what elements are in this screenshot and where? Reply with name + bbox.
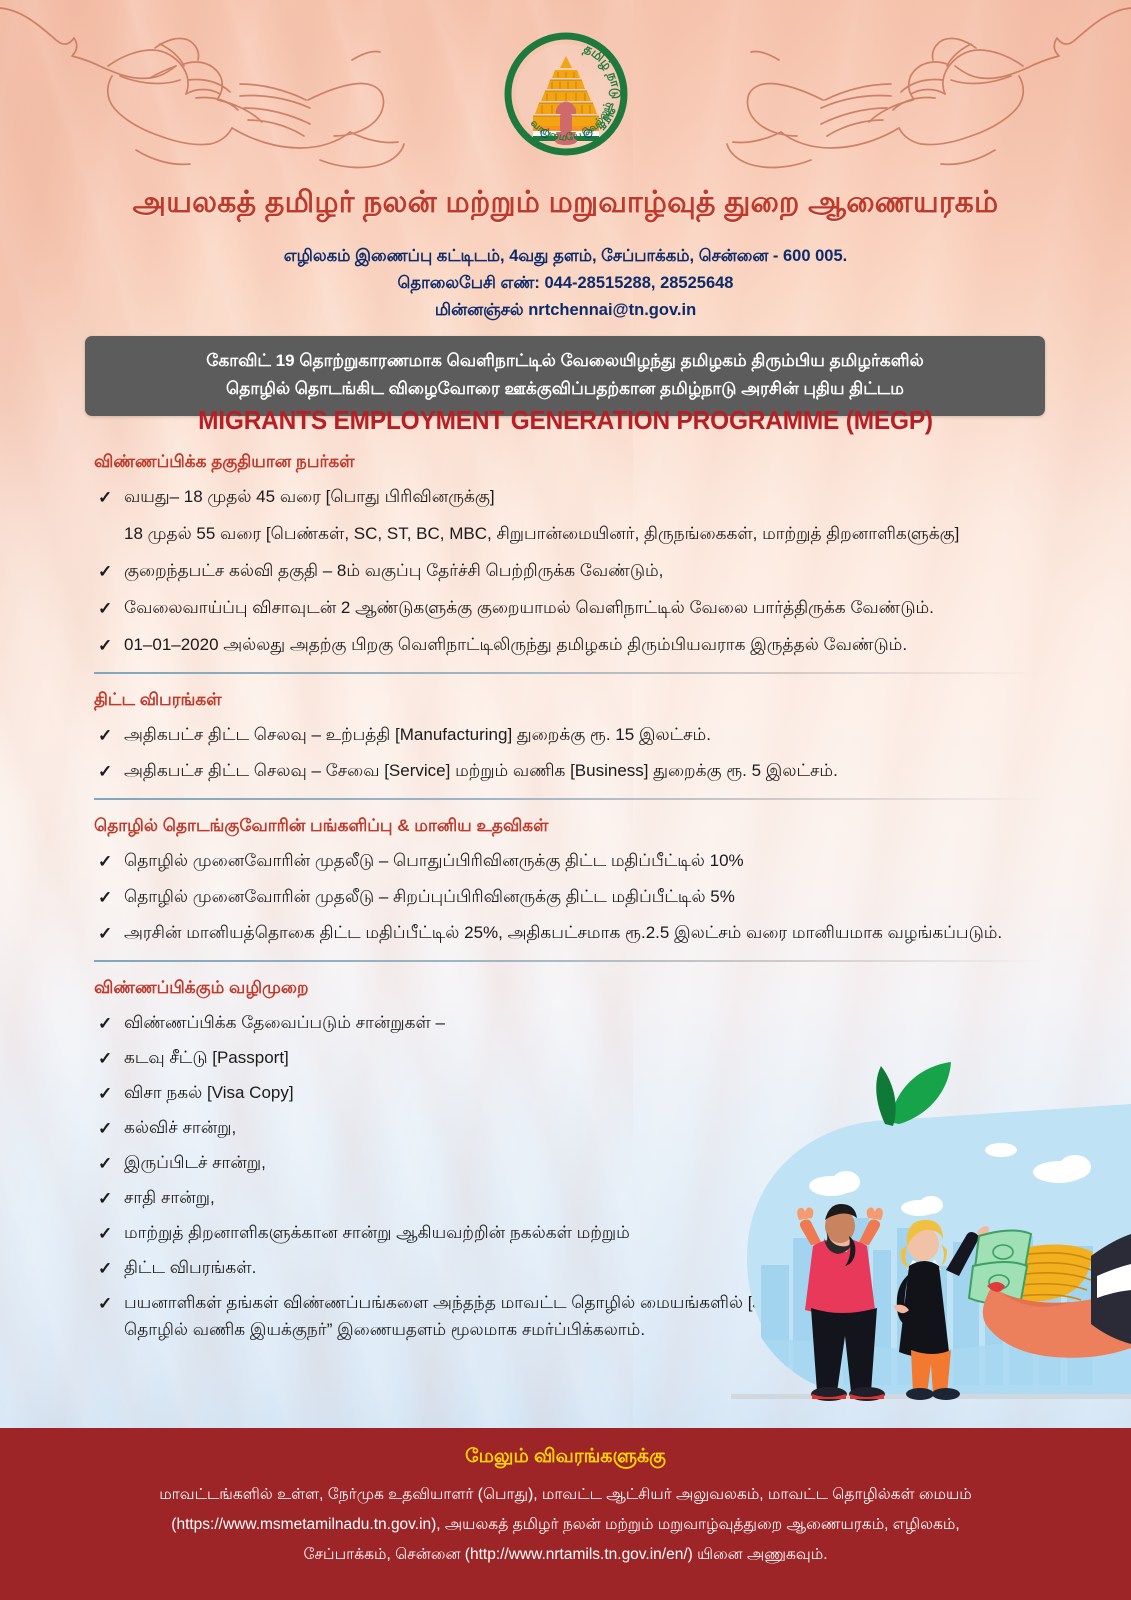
list-item: ✓தொழில் முனைவோரின் முதலீடு – சிறப்புப்பி… bbox=[94, 883, 1044, 910]
list-item-text: தொழில் முனைவோரின் முதலீடு – பொதுப்பிரிவி… bbox=[124, 851, 744, 870]
section-divider bbox=[94, 798, 1044, 800]
list-item: ✓வயது– 18 முதல் 45 வரை [பொது பிரிவினருக்… bbox=[94, 483, 1044, 510]
list-item: ✓மாற்றுத் திறனாளிகளுக்கான சான்று ஆகியவற்… bbox=[94, 1219, 1044, 1246]
project-details-list: ✓அதிகபட்ச திட்ட செலவு – உற்பத்தி [Manufa… bbox=[94, 721, 1044, 784]
section-divider bbox=[94, 672, 1044, 674]
section-how-to-apply: விண்ணப்பிக்கும் வழிமுறை ✓விண்ணப்பிக்க தே… bbox=[94, 978, 1044, 1343]
check-icon: ✓ bbox=[98, 1115, 112, 1142]
list-item-text: குறைந்தபட்ச கல்வி தகுதி – 8ம் வகுப்பு தே… bbox=[124, 561, 663, 580]
section-eligibility: விண்ணப்பிக்க தகுதியான நபர்கள் ✓வயது– 18 … bbox=[94, 452, 1044, 658]
list-item: ✓கல்விச் சான்று, bbox=[94, 1114, 1044, 1141]
contact-block: எழிலகம் இணைப்பு கட்டிடம், 4வது தளம், சேப… bbox=[0, 243, 1131, 324]
list-item-text: மாற்றுத் திறனாளிகளுக்கான சான்று ஆகியவற்ற… bbox=[124, 1223, 630, 1242]
list-item: ✓பயனாளிகள் தங்கள் விண்ணப்பங்களை அந்தந்த … bbox=[94, 1289, 1044, 1343]
list-item-text: 01–01–2020 அல்லது அதற்கு பிறகு வெளிநாட்ட… bbox=[124, 635, 907, 654]
check-icon: ✓ bbox=[98, 595, 112, 622]
list-item: ✓கடவு சீட்டு [Passport] bbox=[94, 1044, 1044, 1071]
check-icon: ✓ bbox=[98, 1290, 112, 1317]
check-icon: ✓ bbox=[98, 1185, 112, 1212]
check-icon: ✓ bbox=[98, 1150, 112, 1177]
list-item-text: வேலைவாய்ப்பு விசாவுடன் 2 ஆண்டுகளுக்கு கு… bbox=[124, 598, 934, 617]
how-to-apply-list: ✓விண்ணப்பிக்க தேவைப்படும் சான்றுகள் – ✓க… bbox=[94, 1009, 1044, 1343]
list-item: ✓தொழில் முனைவோரின் முதலீடு – பொதுப்பிரிவ… bbox=[94, 847, 1044, 874]
list-item-text: அரசின் மானியத்தொகை திட்ட மதிப்பீட்டில் 2… bbox=[124, 923, 1002, 942]
check-icon: ✓ bbox=[98, 722, 112, 749]
check-icon: ✓ bbox=[98, 558, 112, 585]
list-item: ✓வேலைவாய்ப்பு விசாவுடன் 2 ஆண்டுகளுக்கு க… bbox=[94, 594, 1044, 621]
list-item: ✓அதிகபட்ச திட்ட செலவு – உற்பத்தி [Manufa… bbox=[94, 721, 1044, 748]
list-item: ✓குறைந்தபட்ச கல்வி தகுதி – 8ம் வகுப்பு த… bbox=[94, 557, 1044, 584]
footer-body: மாவட்டங்களில் உள்ள, நேர்முக உதவியாளர் (ப… bbox=[0, 1480, 1131, 1570]
list-item-text: பயனாளிகள் தங்கள் விண்ணப்பங்களை அந்தந்த ம… bbox=[124, 1293, 996, 1339]
list-item-text: அதிகபட்ச திட்ட செலவு – உற்பத்தி [Manufac… bbox=[124, 725, 711, 744]
list-item-text: கல்விச் சான்று, bbox=[124, 1118, 236, 1137]
email-line: மின்னஞ்சல் nrtchennai@tn.gov.in bbox=[0, 297, 1131, 324]
contribution-list: ✓தொழில் முனைவோரின் முதலீடு – பொதுப்பிரிவ… bbox=[94, 847, 1044, 946]
list-item: ✓01–01–2020 அல்லது அதற்கு பிறகு வெளிநாட்… bbox=[94, 631, 1044, 658]
list-item: ✓அரசின் மானியத்தொகை திட்ட மதிப்பீட்டில் … bbox=[94, 919, 1044, 946]
phone-line: தொலைபேசி எண்: 044-28515288, 28525648 bbox=[0, 270, 1131, 297]
programme-title: MIGRANTS EMPLOYMENT GENERATION PROGRAMME… bbox=[34, 405, 1097, 436]
list-item-text: அதிகபட்ச திட்ட செலவு – சேவை [Service] மற… bbox=[124, 761, 838, 780]
footer-line-2: (https://www.msmetamilnadu.tn.gov.in), அ… bbox=[58, 1510, 1073, 1540]
content-body: விண்ணப்பிக்க தகுதியான நபர்கள் ✓வயது– 18 … bbox=[94, 452, 1044, 1351]
list-item: ✓அதிகபட்ச திட்ட செலவு – சேவை [Service] ம… bbox=[94, 757, 1044, 784]
check-icon: ✓ bbox=[98, 1080, 112, 1107]
check-icon: ✓ bbox=[98, 484, 112, 511]
list-item: ✓சாதி சான்று, bbox=[94, 1184, 1044, 1211]
section-divider bbox=[94, 960, 1044, 962]
list-item-text: திட்ட விபரங்கள். bbox=[124, 1258, 256, 1277]
tamil-nadu-state-emblem-icon: தமிழ் நாடு அரசு வாய்மையே வெல்லும் bbox=[500, 28, 632, 160]
list-item-text: விசா நகல் [Visa Copy] bbox=[124, 1083, 294, 1102]
list-item: ✓திட்ட விபரங்கள். bbox=[94, 1254, 1044, 1281]
check-icon: ✓ bbox=[98, 1255, 112, 1282]
section-project-details: திட்ட விபரங்கள் ✓அதிகபட்ச திட்ட செலவு – … bbox=[94, 690, 1044, 784]
list-item: ✓விண்ணப்பிக்க தேவைப்படும் சான்றுகள் – bbox=[94, 1009, 1044, 1036]
banner-line-1: கோவிட் 19 தொற்றுகாரணமாக வெளிநாட்டில் வேல… bbox=[103, 347, 1027, 375]
emblem-container: தமிழ் நாடு அரசு வாய்மையே வெல்லும் bbox=[0, 28, 1131, 160]
eligibility-list: ✓வயது– 18 முதல் 45 வரை [பொது பிரிவினருக்… bbox=[94, 483, 1044, 658]
check-icon: ✓ bbox=[98, 920, 112, 947]
check-icon: ✓ bbox=[98, 1045, 112, 1072]
organisation-title: அயலகத் தமிழர் நலன் மற்றும் மறுவாழ்வுத் த… bbox=[0, 186, 1131, 224]
check-icon: ✓ bbox=[98, 1220, 112, 1247]
section-contribution-subsidy: தொழில் தொடங்குவோரின் பங்களிப்பு & மானிய … bbox=[94, 816, 1044, 946]
list-item: ✓இருப்பிடச் சான்று, bbox=[94, 1149, 1044, 1176]
check-icon: ✓ bbox=[98, 632, 112, 659]
list-item: 18 முதல் 55 வரை [பெண்கள், SC, ST, BC, MB… bbox=[94, 520, 1044, 547]
check-icon: ✓ bbox=[98, 848, 112, 875]
footer-bar: மேலும் விவரங்களுக்கு மாவட்டங்களில் உள்ள,… bbox=[0, 1428, 1131, 1600]
list-item-text: தொழில் முனைவோரின் முதலீடு – சிறப்புப்பிர… bbox=[124, 887, 735, 906]
footer-heading: மேலும் விவரங்களுக்கு bbox=[0, 1446, 1131, 1470]
scheme-banner: கோவிட் 19 தொற்றுகாரணமாக வெளிநாட்டில் வேல… bbox=[85, 336, 1045, 416]
section-heading: தொழில் தொடங்குவோரின் பங்களிப்பு & மானிய … bbox=[94, 816, 1044, 838]
list-item: ✓விசா நகல் [Visa Copy] bbox=[94, 1079, 1044, 1106]
footer-line-3: சேப்பாக்கம், சென்னை (http://www.nrtamils… bbox=[58, 1540, 1073, 1570]
check-icon: ✓ bbox=[98, 884, 112, 911]
list-item-text: விண்ணப்பிக்க தேவைப்படும் சான்றுகள் – bbox=[124, 1013, 445, 1032]
section-heading: திட்ட விபரங்கள் bbox=[94, 690, 1044, 712]
list-item-text: வயது– 18 முதல் 45 வரை [பொது பிரிவினருக்க… bbox=[124, 487, 495, 506]
list-item-text: சாதி சான்று, bbox=[124, 1188, 215, 1207]
list-item-text: 18 முதல் 55 வரை [பெண்கள், SC, ST, BC, MB… bbox=[124, 524, 959, 543]
footer-line-1: மாவட்டங்களில் உள்ள, நேர்முக உதவியாளர் (ப… bbox=[58, 1480, 1073, 1510]
address-line: எழிலகம் இணைப்பு கட்டிடம், 4வது தளம், சேப… bbox=[0, 243, 1131, 270]
poster-root: தமிழ் நாடு அரசு வாய்மையே வெல்லும் அயலகத்… bbox=[0, 0, 1131, 1600]
section-heading: விண்ணப்பிக்க தகுதியான நபர்கள் bbox=[94, 452, 1044, 474]
check-icon: ✓ bbox=[98, 1010, 112, 1037]
list-item-text: இருப்பிடச் சான்று, bbox=[124, 1153, 266, 1172]
check-icon: ✓ bbox=[98, 758, 112, 785]
banner-line-2: தொழில் தொடங்கிட விழைவோரை ஊக்குவிப்பதற்கா… bbox=[103, 375, 1027, 403]
section-heading: விண்ணப்பிக்கும் வழிமுறை bbox=[94, 978, 1044, 1000]
list-item-text: கடவு சீட்டு [Passport] bbox=[124, 1048, 289, 1067]
